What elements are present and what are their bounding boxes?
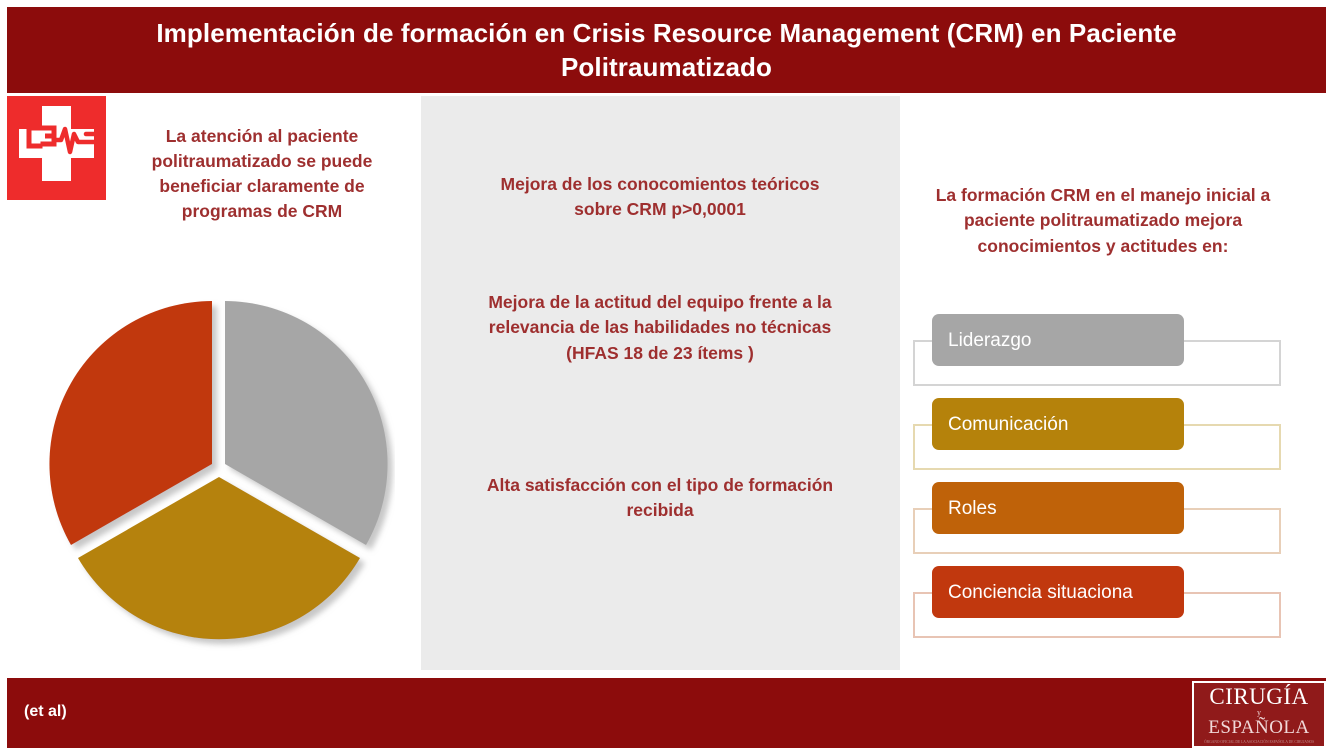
outcome-item-comunicacion: Comunicación xyxy=(911,396,1291,474)
outcome-fill: Roles xyxy=(932,482,1184,534)
slide-footer-bar xyxy=(7,678,1326,748)
journal-name-conjunction: y xyxy=(1257,709,1261,717)
outcome-item-roles: Roles xyxy=(911,480,1291,558)
citation-text: (et al) xyxy=(24,703,67,721)
finding-satisfaction: Alta satisfacción con el tipo de formaci… xyxy=(480,473,840,524)
outcome-fill: Liderazgo xyxy=(932,314,1184,366)
outcome-label: Roles xyxy=(948,499,997,518)
outcome-item-conciencia-situacional: Conciencia situaciona xyxy=(911,564,1291,642)
outcome-label: Conciencia situaciona xyxy=(948,583,1133,602)
finding-attitude: Mejora de la actitud del equipo frente a… xyxy=(480,290,840,366)
outcomes-bar-list: Liderazgo Comunicación Roles Conciencia … xyxy=(911,312,1291,642)
crm-cross-logo xyxy=(7,96,106,200)
outcome-fill: Comunicación xyxy=(932,398,1184,450)
outcome-label: Liderazgo xyxy=(948,331,1031,350)
slide-canvas: Implementación de formación en Crisis Re… xyxy=(0,0,1333,755)
right-column-heading: La formación CRM en el manejo inicial a … xyxy=(918,183,1288,259)
cirugia-espanola-logo: CIRUGÍA y ESPAÑOLA ÓRGANO OFICIAL DE LA … xyxy=(1192,681,1326,748)
journal-name-line2: ESPAÑOLA xyxy=(1208,718,1310,737)
outcome-label: Comunicación xyxy=(948,415,1068,434)
journal-subtitle: ÓRGANO OFICIAL DE LA ASOCIACIÓN ESPAÑOLA… xyxy=(1204,740,1314,744)
finding-knowledge: Mejora de los conocomientos teóricos sob… xyxy=(480,172,840,223)
outcome-item-liderazgo: Liderazgo xyxy=(911,312,1291,390)
crm-components-pie-chart: e-learning Simulación clínica Equipo mul… xyxy=(45,272,395,657)
outcome-fill: Conciencia situaciona xyxy=(932,566,1184,618)
page-title: Implementación de formación en Crisis Re… xyxy=(97,16,1236,85)
journal-name-line1: CIRUGÍA xyxy=(1209,685,1308,708)
left-column-heading: La atención al paciente politraumatizado… xyxy=(112,124,412,223)
slide-title-bar: Implementación de formación en Crisis Re… xyxy=(7,7,1326,93)
